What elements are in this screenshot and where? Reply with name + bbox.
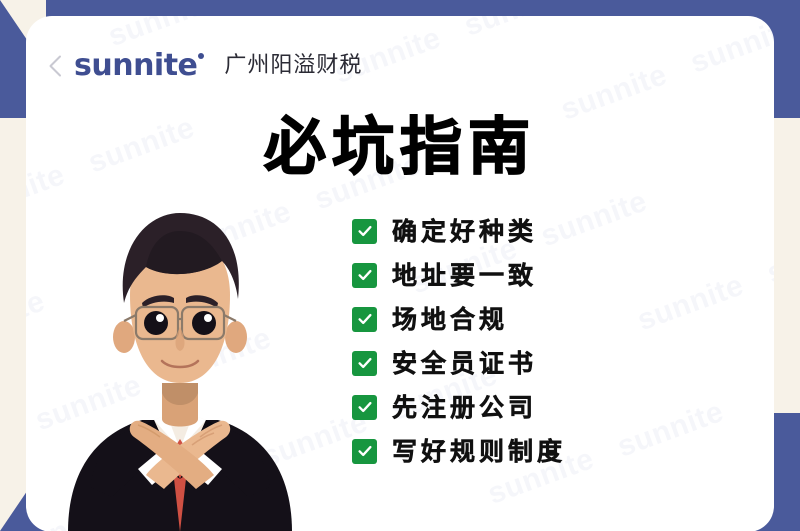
checklist-item[interactable]: 地址要一致 xyxy=(352,262,566,288)
check-icon[interactable] xyxy=(352,219,377,244)
chevron-left-icon[interactable] xyxy=(48,55,62,77)
businessman-crossed-arms-illustration xyxy=(50,187,310,531)
watermark-text: sunnite xyxy=(613,364,774,531)
checklist-item-label: 安全员证书 xyxy=(392,351,537,376)
brand-logo-text: sunnite xyxy=(74,51,197,81)
checklist-item-label: 先注册公司 xyxy=(392,395,537,420)
checklist: 确定好种类地址要一致场地合规安全员证书先注册公司写好规则制度 xyxy=(352,218,566,464)
checklist-item[interactable]: 先注册公司 xyxy=(352,394,566,420)
header-bar: sunnite 广州阳溢财税 xyxy=(48,46,362,86)
brand-dot-icon xyxy=(198,53,204,59)
watermark-text: sunnite xyxy=(537,154,763,328)
checklist-item-label: 确定好种类 xyxy=(392,219,537,244)
page-title: 必坑指南 xyxy=(26,116,774,178)
check-icon[interactable] xyxy=(352,439,377,464)
watermark-text: sunnite xyxy=(460,16,686,117)
checklist-item-label: 地址要一致 xyxy=(392,263,537,288)
check-icon[interactable] xyxy=(352,395,377,420)
brand-logo-group[interactable]: sunnite xyxy=(74,51,204,81)
checklist-item[interactable]: 安全员证书 xyxy=(352,350,566,376)
checklist-item[interactable]: 场地合规 xyxy=(352,306,566,332)
checklist-item[interactable]: 确定好种类 xyxy=(352,218,566,244)
checklist-item-label: 场地合规 xyxy=(392,307,508,332)
checklist-item-label: 写好规则制度 xyxy=(392,439,566,464)
company-name-label: 广州阳溢财税 xyxy=(224,55,362,77)
watermark-text: sunnite xyxy=(633,259,774,411)
checklist-item[interactable]: 写好规则制度 xyxy=(352,438,566,464)
poster-canvas: sunnitesunnitesunnitesunnitesunnitesunni… xyxy=(0,0,800,531)
check-icon[interactable] xyxy=(352,263,377,288)
content-card: sunnitesunnitesunnitesunnitesunnitesunni… xyxy=(26,16,774,531)
check-icon[interactable] xyxy=(352,351,377,376)
check-icon[interactable] xyxy=(352,307,377,332)
watermark-text: sunnite xyxy=(763,191,774,365)
